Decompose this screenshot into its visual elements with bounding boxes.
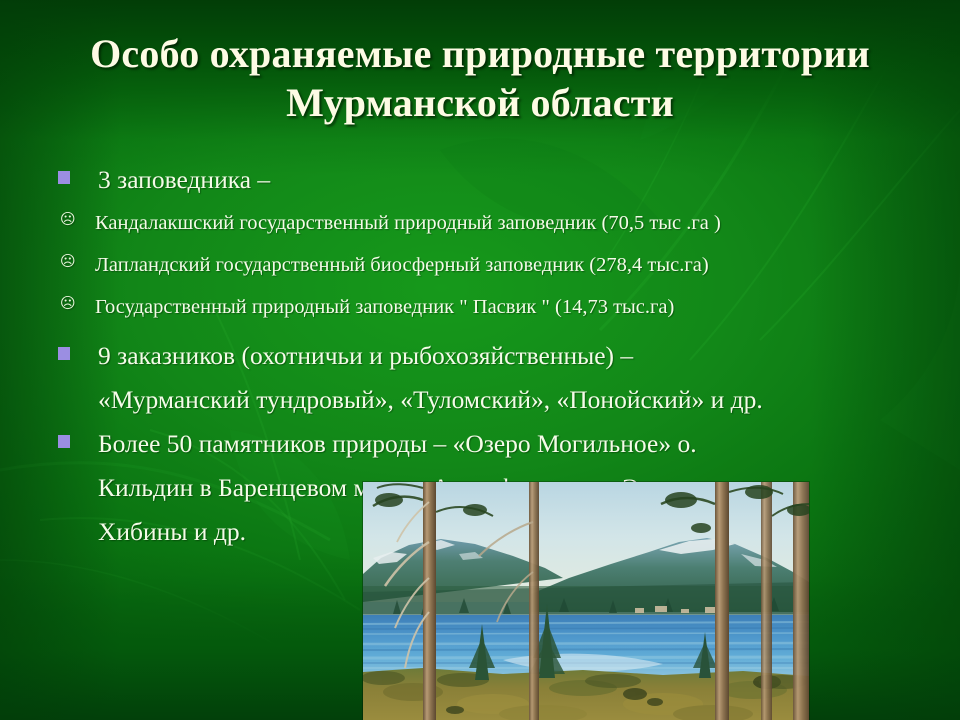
list-item-label: Более 50 памятников природы – «Озеро Мог… — [98, 429, 697, 458]
list-item: 9 заказников (охотничьи и рыбохозяйствен… — [55, 334, 935, 378]
slide-title-line-2: Мурманской области — [42, 79, 918, 128]
list-item-label: 3 заповедника – — [98, 165, 270, 194]
list-item-continuation: «Мурманский тундровый», «Туломский», «По… — [55, 378, 935, 422]
list-item: 3 заповедника – — [55, 158, 935, 202]
square-bullet-icon — [58, 347, 70, 360]
list-item-label: Хибины и др. — [98, 517, 246, 546]
slide: Особо охраняемые природные территории Му… — [0, 0, 960, 720]
sub-list-reserves: ☹ Кандалакшский государственный природны… — [55, 202, 935, 328]
frowning-face-bullet-icon: ☹ — [60, 296, 75, 311]
frowning-face-bullet-icon: ☹ — [60, 212, 75, 227]
bullet-group-zakazniki: 9 заказников (охотничьи и рыбохозяйствен… — [55, 334, 935, 422]
square-bullet-icon — [58, 435, 70, 448]
slide-title: Особо охраняемые природные территории Му… — [42, 30, 918, 128]
list-item: ☹ Государственный природный заповедник "… — [55, 286, 935, 328]
list-item: Более 50 памятников природы – «Озеро Мог… — [55, 422, 935, 466]
landscape-photo-image — [363, 482, 809, 720]
list-item: ☹ Лапландский государственный биосферный… — [55, 244, 935, 286]
list-item: ☹ Кандалакшский государственный природны… — [55, 202, 935, 244]
list-item-label: 9 заказников (охотничьи и рыбохозяйствен… — [98, 341, 633, 370]
square-bullet-icon — [58, 171, 70, 184]
slide-title-line-1: Особо охраняемые природные территории — [42, 30, 918, 79]
list-item-label: Кандалакшский государственный природный … — [95, 212, 721, 234]
list-item-label: Лапландский государственный биосферный з… — [95, 254, 709, 276]
landscape-photo — [363, 482, 809, 720]
bullet-group-reserves: 3 заповедника – ☹ Кандалакшский государс… — [55, 158, 935, 328]
frowning-face-bullet-icon: ☹ — [60, 254, 75, 269]
list-item-label: Государственный природный заповедник " П… — [95, 296, 674, 318]
list-item-label: «Мурманский тундровый», «Туломский», «По… — [98, 385, 763, 414]
